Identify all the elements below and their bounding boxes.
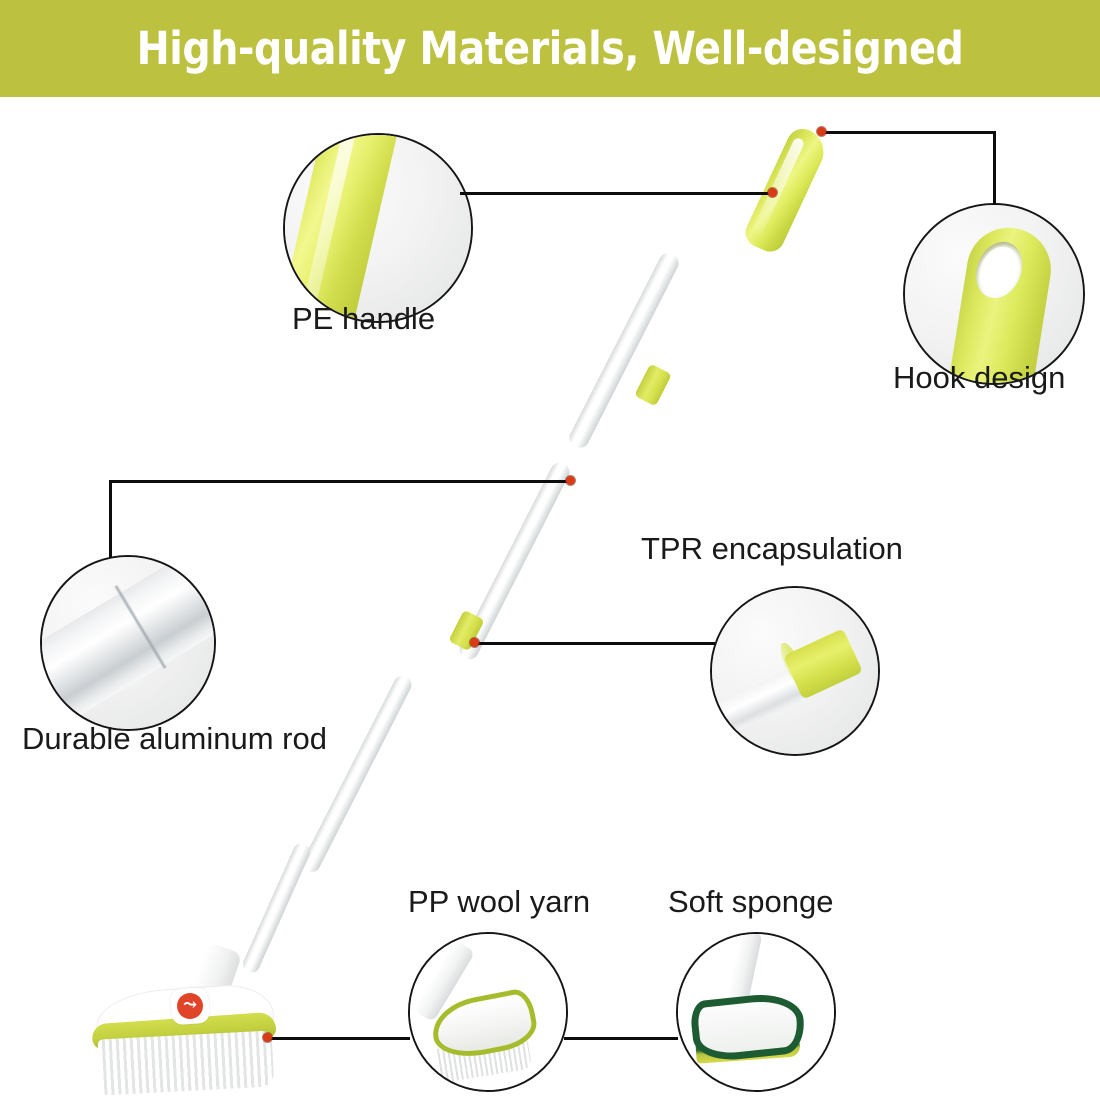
callout-label-pp-wool-yarn: PP wool yarn [408, 886, 590, 917]
logo-glyph: ⤳ [183, 997, 197, 1014]
brand-logo-icon: ⤳ [177, 993, 203, 1019]
callout-label-soft-sponge: Soft sponge [668, 886, 833, 917]
callout-label-aluminum-rod: Durable aluminum rod [22, 723, 327, 754]
leader-dot-brush-head [263, 1033, 272, 1042]
callout-circle-pp-wool-yarn [408, 932, 568, 1092]
callout-label-pe-handle: PE handle [292, 303, 435, 334]
leader-line-tpr-encapsulation [475, 642, 715, 645]
callout-circle-tpr-encapsulation [710, 586, 880, 756]
leader-dot-pe-handle [768, 188, 777, 197]
leader-dot-aluminum-rod [566, 476, 575, 485]
product-pole-upper [566, 250, 681, 451]
callout-circle-pe-handle [283, 133, 473, 323]
page-title: High-quality Materials, Well-designed [66, 0, 1034, 97]
leader-line-pe-handle [460, 192, 773, 195]
leader-dot-tpr-encapsulation [470, 638, 479, 647]
header-banner: High-quality Materials, Well-designed [0, 0, 1100, 97]
callout-label-hook-design: Hook design [893, 362, 1065, 393]
infographic-page: High-quality Materials, Well-designed ⤳ [0, 0, 1100, 1097]
callout-circle-hook-design [903, 203, 1085, 385]
callout-circle-aluminum-rod [40, 555, 216, 731]
leader-line-aluminum-rod-horizontal [109, 480, 571, 483]
leader-line-hook-design-horizontal [824, 131, 996, 134]
leader-line-brush-to-pp-wool-yarn [268, 1037, 410, 1040]
callout-label-tpr-encapsulation: TPR encapsulation [641, 533, 903, 564]
product-head-bristles [98, 1030, 275, 1095]
product-pole-lower [299, 673, 414, 875]
leader-line-hook-design-vertical [993, 131, 996, 205]
leader-line-pp-wool-yarn-to-soft-sponge [564, 1037, 678, 1040]
leader-line-aluminum-rod-vertical [109, 480, 112, 558]
soft-sponge-plate [689, 990, 807, 1063]
product-pe-handle-grip [741, 124, 831, 257]
product-pole-neck [240, 841, 312, 976]
leader-dot-hook-design [817, 127, 826, 136]
callout-circle-soft-sponge [676, 932, 836, 1092]
product-tpr-band-upper [634, 364, 672, 407]
